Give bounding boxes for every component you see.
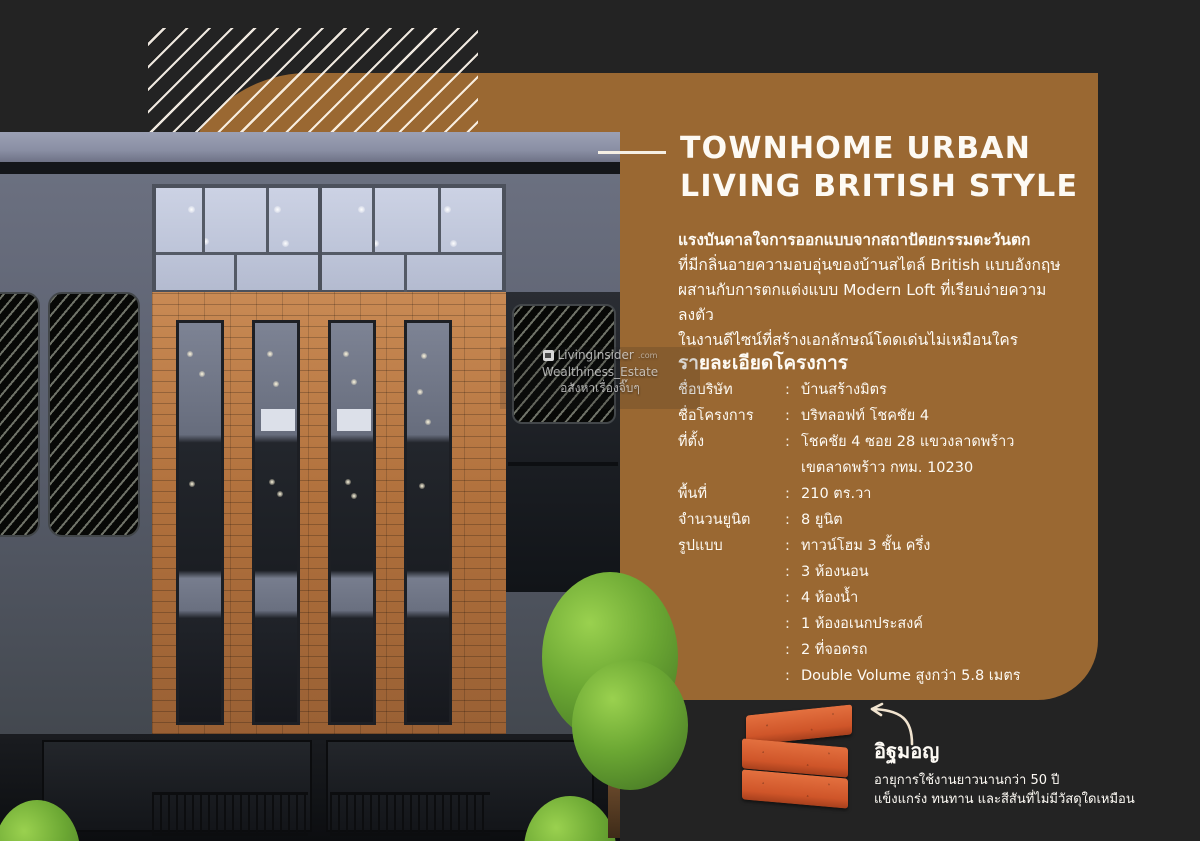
headline-line-1: TOWNHOME URBAN <box>680 130 1100 168</box>
detail-colon: : <box>785 409 801 424</box>
detail-row: จำนวนยูนิต:8 ยูนิต <box>678 513 1098 539</box>
detail-value: 210 ตร.วา <box>801 487 1098 502</box>
intro-line-2: ที่มีกลิ่นอายความอบอุ่นของบ้านสไตล์ Brit… <box>678 253 1078 278</box>
project-details-list: ชื่อบริษัท:บ้านสร้างมิตรชื่อโครงการ:บริท… <box>678 383 1098 695</box>
window-bay-3 <box>328 320 376 725</box>
detail-value: 2 ที่จอดรถ <box>801 643 1098 658</box>
louver-panel-left-inner <box>48 292 140 537</box>
intro-line-3: ผสานกับการตกแต่งแบบ Modern Loft ที่เรียบ… <box>678 278 1078 328</box>
watermark-account: Wealthiness_Estate <box>500 364 700 381</box>
headline-rule <box>598 151 666 154</box>
detail-label: พื้นที่ <box>678 487 785 502</box>
window-bay-2 <box>252 320 300 725</box>
details-heading: รายละเอียดโครงการ <box>678 348 848 378</box>
page-title: TOWNHOME URBAN LIVING BRITISH STYLE <box>680 130 1100 207</box>
louver-panel-left-outer <box>0 292 40 537</box>
detail-colon: : <box>785 487 801 502</box>
headline-line-2: LIVING BRITISH STYLE <box>680 168 1100 206</box>
detail-row: :3 ห้องนอน <box>678 565 1098 591</box>
detail-value: ทาวน์โฮม 3 ชั้น ครึ่ง <box>801 539 1098 554</box>
detail-colon: : <box>785 435 801 450</box>
detail-value: 3 ห้องนอน <box>801 565 1098 580</box>
detail-row: พื้นที่:210 ตร.วา <box>678 487 1098 513</box>
window-bay-1 <box>176 320 224 725</box>
sky-band <box>0 132 620 162</box>
detail-row: :2 ที่จอดรถ <box>678 643 1098 669</box>
brick-callout: อิฐมอญ อายุการใช้งานยาวนานกว่า 50 ปี แข็… <box>874 735 1174 809</box>
detail-colon: : <box>785 669 801 684</box>
brick-facade <box>152 292 506 767</box>
top-floor-window-right <box>318 184 506 294</box>
detail-label: จำนวนยูนิต <box>678 513 785 528</box>
detail-value: โชคชัย 4 ซอย 28 แขวงลาดพร้าว <box>801 435 1098 450</box>
detail-value: บริทลอฟท์ โชคชัย 4 <box>801 409 1098 424</box>
detail-value: 4 ห้องน้ำ <box>801 591 1098 606</box>
detail-label: ชื่อโครงการ <box>678 409 785 424</box>
detail-row: ชื่อโครงการ:บริทลอฟท์ โชคชัย 4 <box>678 409 1098 435</box>
detail-colon: : <box>785 617 801 632</box>
brick-callout-title: อิฐมอญ <box>874 735 1174 767</box>
brick-callout-line-1: อายุการใช้งานยาวนานกว่า 50 ปี <box>874 771 1174 790</box>
window-bay-4 <box>404 320 452 725</box>
watermark-tagline: อสังหาเรื่องจิ๊บๆ <box>500 380 700 397</box>
fence-right <box>330 792 490 836</box>
watermark-brand-row: LivingInsider .com <box>500 347 700 364</box>
poster-root: TOWNHOME URBAN LIVING BRITISH STYLE แรงบ… <box>0 0 1200 841</box>
watermark: LivingInsider .com Wealthiness_Estate อส… <box>500 347 700 409</box>
detail-colon: : <box>785 565 801 580</box>
detail-colon: : <box>785 643 801 658</box>
fence-left <box>152 792 308 836</box>
detail-label: รูปแบบ <box>678 539 785 554</box>
detail-value: เขตลาดพร้าว กทม. 10230 <box>801 461 1098 476</box>
detail-colon: : <box>785 513 801 528</box>
building-render-image <box>0 132 620 841</box>
detail-row: ที่ตั้ง:โชคชัย 4 ซอย 28 แขวงลาดพร้าว <box>678 435 1098 461</box>
detail-row: ชื่อบริษัท:บ้านสร้างมิตร <box>678 383 1098 409</box>
detail-value: 8 ยูนิต <box>801 513 1098 528</box>
top-floor-window-left <box>152 184 334 294</box>
detail-value: 1 ห้องอเนกประสงค์ <box>801 617 1098 632</box>
intro-paragraph: แรงบันดาลใจการออกแบบจากสถาปัตยกรรมตะวันต… <box>678 228 1078 354</box>
tree-foreground-lower <box>572 660 688 790</box>
watermark-brand-suffix: .com <box>638 350 658 361</box>
detail-value: บ้านสร้างมิตร <box>801 383 1098 398</box>
balcony-rail <box>508 462 618 466</box>
detail-colon: : <box>785 539 801 554</box>
detail-row: :Double Volume สูงกว่า 5.8 เมตร <box>678 669 1098 695</box>
intro-line-1: แรงบันดาลใจการออกแบบจากสถาปัตยกรรมตะวันต… <box>678 228 1078 253</box>
detail-row: :4 ห้องน้ำ <box>678 591 1098 617</box>
detail-row: เขตลาดพร้าว กทม. 10230 <box>678 461 1098 487</box>
roof-shadow <box>0 162 620 174</box>
living-insider-logo-icon <box>543 350 554 361</box>
brick-stack-image <box>740 710 860 815</box>
detail-row: รูปแบบ:ทาวน์โฮม 3 ชั้น ครึ่ง <box>678 539 1098 565</box>
watermark-brand: LivingInsider <box>558 347 634 364</box>
brick-callout-line-2: แข็งแกร่ง ทนทาน และสีสันที่ไม่มีวัสดุใดเ… <box>874 790 1174 809</box>
detail-colon: : <box>785 383 801 398</box>
detail-colon: : <box>785 591 801 606</box>
detail-label: ที่ตั้ง <box>678 435 785 450</box>
detail-row: :1 ห้องอเนกประสงค์ <box>678 617 1098 643</box>
detail-value: Double Volume สูงกว่า 5.8 เมตร <box>801 669 1098 684</box>
